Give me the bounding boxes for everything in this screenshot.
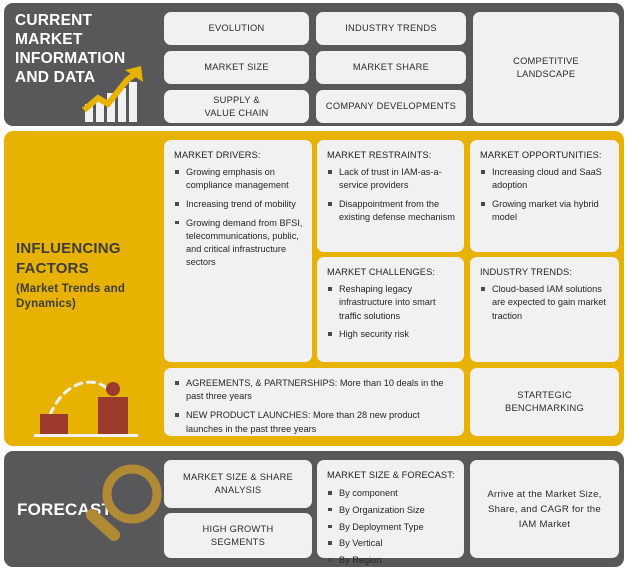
market-restraints-list: Lack of trust in IAM-as-a-service provid… [327,166,455,224]
list-item: Lack of trust in IAM-as-a-service provid… [327,166,455,192]
list-item: Disappointment from the existing defense… [327,198,455,224]
growth-chart-icon [81,66,149,124]
card-industry-trends[interactable]: INDUSTRY TRENDS [316,12,466,45]
card-supply-value-chain[interactable]: SUPPLY & VALUE CHAIN [164,90,309,123]
industry-trends-heading: INDUSTRY TRENDS: [480,266,610,279]
list-item: Cloud-based IAM solutions are expected t… [480,283,610,323]
list-item: By Organization Size [327,504,455,517]
card-market-share[interactable]: MARKET SHARE [316,51,466,84]
market-size-forecast-heading: MARKET SIZE & FORECAST: [327,469,455,482]
influencing-factors-subtitle: (Market Trends and Dynamics) [16,282,156,312]
list-item: Increasing cloud and SaaS adoption [480,166,610,192]
list-item: High security risk [327,328,455,341]
card-arrive-at-market-size[interactable]: Arrive at the Market Size, Share, and CA… [470,460,619,558]
card-strategic-benchmarking[interactable]: STARTEGIC BENCHMARKING [470,368,619,436]
list-item: By Deployment Type [327,521,455,534]
market-opportunities-heading: MARKET OPPORTUNITIES: [480,149,610,162]
card-market-opportunities[interactable]: MARKET OPPORTUNITIES: Increasing cloud a… [470,140,619,252]
list-item: NEW PRODUCT LAUNCHES: More than 28 new p… [174,409,455,435]
influencing-factors-heading: INFLUENCING FACTORS [16,240,121,277]
card-market-drivers[interactable]: MARKET DRIVERS: Growing emphasis on comp… [164,140,312,362]
card-industry-trends-detail[interactable]: INDUSTRY TRENDS: Cloud-based IAM solutio… [470,257,619,362]
section-current-market: CURRENT MARKET INFORMATION AND DATA EVOL… [4,3,624,126]
market-challenges-heading: MARKET CHALLENGES: [327,266,455,279]
influencing-label-column: INFLUENCING FACTORS (Market Trends and D… [4,131,156,446]
market-challenges-list: Reshaping legacy infrastructure into sma… [327,283,455,341]
list-item: Growing market via hybrid model [480,198,610,224]
market-opportunities-list: Increasing cloud and SaaS adoption Growi… [480,166,610,224]
market-restraints-heading: MARKET RESTRAINTS: [327,149,455,162]
card-company-developments[interactable]: COMPANY DEVELOPMENTS [316,90,466,123]
list-item: Growing demand from BFSI, telecommunicat… [174,217,303,270]
market-drivers-list: Growing emphasis on compliance managemen… [174,166,303,269]
list-item: By Region [327,554,455,567]
card-market-size-forecast[interactable]: MARKET SIZE & FORECAST: By component By … [317,460,464,558]
market-research-framework-diagram: CURRENT MARKET INFORMATION AND DATA EVOL… [0,0,628,570]
forecast-label-column: FORECAST [4,451,156,567]
section-forecast: FORECAST MARKET SIZE & SHARE ANALYSIS HI… [4,451,624,567]
current-market-label-column: CURRENT MARKET INFORMATION AND DATA [4,3,156,126]
magnifier-icon [76,461,168,557]
list-item: AGREEMENTS, & PARTNERSHIPS: More than 10… [174,377,455,403]
list-item: By Vertical [327,537,455,550]
card-evolution[interactable]: EVOLUTION [164,12,309,45]
card-agreements-partnerships[interactable]: AGREEMENTS, & PARTNERSHIPS: More than 10… [164,368,464,436]
list-item: By component [327,487,455,500]
card-competitive-landscape[interactable]: COMPETITIVE LANDSCAPE [473,12,619,123]
card-high-growth-segments[interactable]: HIGH GROWTH SEGMENTS [164,513,312,558]
industry-trends-list: Cloud-based IAM solutions are expected t… [480,283,610,323]
card-market-challenges[interactable]: MARKET CHALLENGES: Reshaping legacy infr… [317,257,464,362]
agreements-list: AGREEMENTS, & PARTNERSHIPS: More than 10… [174,377,455,436]
list-item: Reshaping legacy infrastructure into sma… [327,283,455,323]
list-item: Growing emphasis on compliance managemen… [174,166,303,192]
card-market-size-share-analysis[interactable]: MARKET SIZE & SHARE ANALYSIS [164,460,312,508]
section-influencing-factors: INFLUENCING FACTORS (Market Trends and D… [4,131,624,446]
bar-trend-icon [32,367,144,437]
market-size-forecast-list: By component By Organization Size By Dep… [327,487,455,567]
market-drivers-heading: MARKET DRIVERS: [174,149,303,162]
card-market-size[interactable]: MARKET SIZE [164,51,309,84]
list-item: Increasing trend of mobility [174,198,303,211]
influencing-factors-title: INFLUENCING FACTORS (Market Trends and D… [16,239,156,312]
card-market-restraints[interactable]: MARKET RESTRAINTS: Lack of trust in IAM-… [317,140,464,252]
